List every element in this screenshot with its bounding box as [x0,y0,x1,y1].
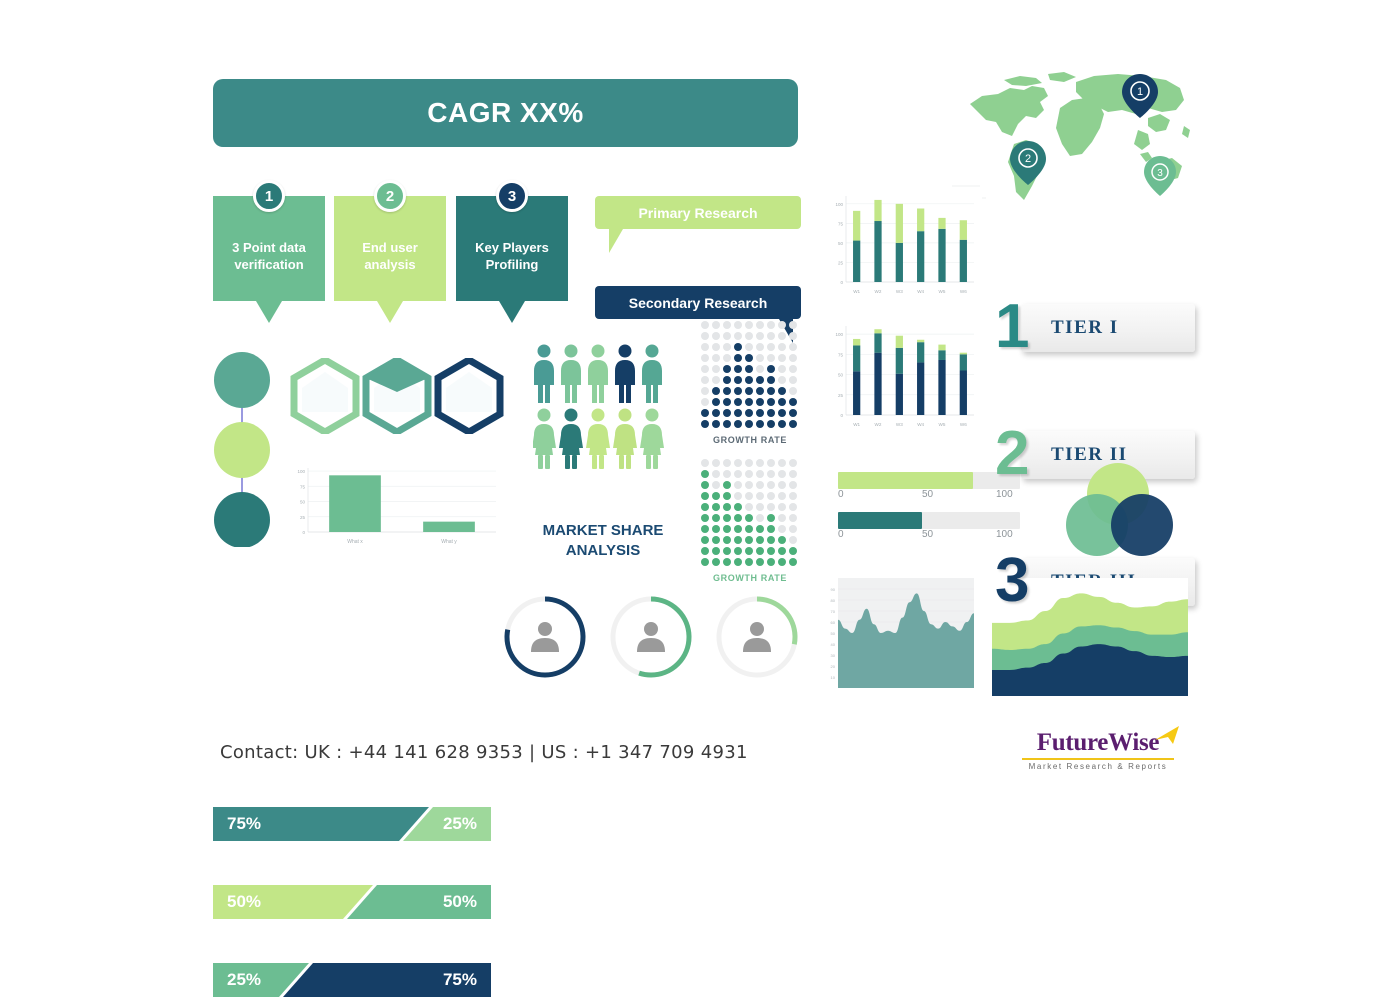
growth-rate-top-caption: GROWTH RATE [700,435,800,445]
growth-top-dot [712,409,720,417]
growth-top-dot [712,387,720,395]
y-tick-label: 0 [302,530,305,535]
growth-bottom-dot [789,514,797,522]
step-badge-3: 3 [496,180,528,212]
growth-top-dot [723,420,731,428]
y-tick-label: 70 [831,609,836,614]
logo-divider [1022,758,1174,760]
growth-top-dot [789,365,797,373]
primary-research-tail [609,229,623,253]
stacked-bar-chart-bottom: 0255075100W1W2W3W4W5W6 [824,320,982,435]
tier-label-1: TIER I [1051,317,1119,339]
simple-bar-chart: 0255075100What xWhat y [288,462,504,550]
person-icon-male-1 [534,345,554,404]
bar-segment [853,211,860,241]
logo-word-wise: Wise [1108,729,1159,756]
market-share-people [533,344,673,474]
futurewise-logo[interactable]: FutureWise Market Research & Reports [1018,730,1178,771]
growth-bottom-dot [745,492,753,500]
growth-bottom-dot [745,481,753,489]
growth-top-dot [734,343,742,351]
growth-bottom-dot [701,481,709,489]
x-tick-label: W6 [960,289,967,294]
growth-top-dot [701,387,709,395]
growth-bottom-dot [767,525,775,533]
growth-bottom-dot [778,547,786,555]
growth-bottom-dot [778,459,786,467]
growth-top-dot [767,376,775,384]
growth-top-dot [767,332,775,340]
growth-bottom-dot [778,503,786,511]
growth-top-dot [789,420,797,428]
step-tail-3 [499,301,525,323]
y-tick-label: 90 [831,587,836,592]
growth-bottom-dot [756,536,764,544]
growth-top-dot [756,398,764,406]
donut-gauge-3 [710,590,804,684]
percent-bar-2-left-value: 50% [227,892,261,912]
cagr-banner-title: CAGR XX% [427,97,583,129]
growth-bottom-dot [712,525,720,533]
y-tick-label: 75 [838,352,844,357]
growth-bottom-dot [712,481,720,489]
growth-rate-bottom-caption: GROWTH RATE [700,573,800,583]
world-map: 1 2 3 [952,66,1192,216]
person-icon-male-5 [642,345,662,404]
person-icon-male-3 [588,345,608,404]
person-icon-female-4 [613,409,637,470]
y-tick-label: 0 [840,280,843,285]
bar-segment [917,340,924,342]
y-tick-label: 100 [835,332,843,337]
growth-bottom-dot [734,503,742,511]
growth-top-dot [745,365,753,373]
bar-segment [853,345,860,371]
growth-bottom-dot [778,492,786,500]
growth-bottom-dot [723,459,731,467]
y-tick-label: 80 [831,598,836,603]
growth-bottom-dot [745,558,753,566]
primary-research-banner: Primary Research [595,196,801,229]
growth-top-dot [734,321,742,329]
growth-rate-dotgrid-top: GROWTH RATE [700,320,800,445]
person-icon [531,622,559,652]
stacked-circles [212,352,272,547]
step-card-3: 3 Key Players Profiling [456,196,568,323]
market-share-caption-line1: MARKET SHARE [520,521,686,541]
growth-top-dot [778,343,786,351]
step-tail-2 [377,301,403,323]
growth-top-dot [734,354,742,362]
growth-top-dot [745,409,753,417]
growth-top-dot [701,420,709,428]
percent-bar-row-1: 75% 25% [213,807,491,841]
percent-bar-2-right: 50% [347,885,491,919]
growth-bottom-dot [756,525,764,533]
growth-top-dot [789,376,797,384]
growth-top-dot [767,387,775,395]
growth-top-dot [712,332,720,340]
growth-bottom-dot [789,536,797,544]
progress-bar-1-fill [838,472,973,489]
y-tick-label: 25 [300,515,306,520]
growth-top-dot [756,343,764,351]
bar-segment [917,342,924,362]
growth-bottom-dot [756,558,764,566]
map-marker-3[interactable]: 3 [1144,156,1176,196]
step-label-2: End user analysis [334,240,446,273]
growth-top-dot [767,398,775,406]
person-icon-female-5 [640,409,664,470]
growth-bottom-dot [723,547,731,555]
bar-segment [896,374,903,415]
x-tick-label: W6 [960,422,967,427]
growth-rate-dotgrid-bottom: GROWTH RATE [700,458,800,583]
progress-bar-1-tick-0: 0 [838,489,844,500]
logo-wordmark: FutureWise [1037,730,1159,755]
growth-top-dot [723,354,731,362]
x-tick-label: W5 [939,422,946,427]
y-tick-label: 25 [838,260,844,265]
step-badge-2: 2 [374,180,406,212]
growth-top-dot [712,420,720,428]
bar-segment [938,218,945,229]
growth-bottom-dot [778,525,786,533]
growth-bottom-dot [789,525,797,533]
growth-bottom-dot [734,459,742,467]
hexagon-1 [294,360,356,432]
x-tick-label: W2 [875,289,882,294]
venn-diagram [1064,462,1180,558]
growth-bottom-dot [701,547,709,555]
growth-top-dot [789,354,797,362]
step-badge-1: 1 [253,180,285,212]
percent-bar-3-right-value: 75% [443,970,477,990]
growth-bottom-dot [734,547,742,555]
logo-word-future: Future [1037,729,1108,756]
person-icon-female-3 [586,409,610,470]
growth-bottom-dot [756,503,764,511]
growth-bottom-dot [756,481,764,489]
footer-contact: Contact: UK : +44 141 628 9353 | US : +1… [220,742,748,763]
y-tick-label: 0 [840,413,843,418]
growth-bottom-dot [701,470,709,478]
hexagon-group [290,358,505,434]
bar-segment [874,221,881,282]
growth-top-dot [734,398,742,406]
growth-bottom-dot [778,536,786,544]
growth-bottom-dot [723,481,731,489]
growth-top-dot [734,387,742,395]
bar-segment [960,354,967,370]
donut-gauge-1 [498,590,592,684]
growth-top-dot [756,365,764,373]
growth-bottom-dot [712,558,720,566]
bar-segment [874,353,881,415]
donut-gauge-2 [604,590,698,684]
x-tick-label: What x [347,539,363,545]
growth-bottom-dot [778,558,786,566]
x-tick-label: W4 [917,422,924,427]
bar [329,475,381,532]
growth-bottom-dot [767,459,775,467]
growth-bottom-dot [712,547,720,555]
growth-bottom-dot [756,470,764,478]
growth-top-dot [767,420,775,428]
infographic-canvas: CAGR XX% 1 3 Point data verification 2 E… [0,0,1400,800]
growth-top-dot [745,321,753,329]
progress-bar-2-fill [838,512,922,529]
growth-top-dot [767,365,775,373]
secondary-research-banner: Secondary Research [595,286,801,319]
percent-bar-1-left-value: 75% [227,814,261,834]
progress-bar-2-tick-50: 50 [922,529,933,540]
growth-top-dot [778,398,786,406]
growth-top-dot [701,354,709,362]
step-card-2: 2 End user analysis [334,196,446,323]
growth-top-dot [756,321,764,329]
growth-top-dot [767,354,775,362]
percent-bar-2-left: 50% [213,885,373,919]
growth-top-dot [756,387,764,395]
tier-row-1[interactable]: TIER I 1 [995,300,1195,356]
growth-top-dot [712,376,720,384]
svg-text:3: 3 [1157,168,1163,179]
progress-bar-2-tick-0: 0 [838,529,844,540]
progress-bar-1-track[interactable] [838,472,1020,489]
growth-bottom-dot [701,514,709,522]
y-tick-label: 20 [831,664,836,669]
bar-segment [917,362,924,415]
growth-bottom-dot [723,536,731,544]
growth-top-dot [723,365,731,373]
person-icon-male-4 [615,345,635,404]
growth-top-dot [756,420,764,428]
y-tick-label: 50 [838,373,844,378]
growth-bottom-dot [701,536,709,544]
growth-bottom-dot [701,558,709,566]
growth-bottom-dot [701,459,709,467]
area-chart-single: 102030405060708090 [822,574,978,696]
growth-bottom-dot [745,547,753,555]
x-tick-label: W1 [853,289,860,294]
growth-top-dot [734,376,742,384]
progress-bar-1-scale: 0 50 100 [838,489,1020,503]
growth-top-dot [701,376,709,384]
growth-top-dot [767,343,775,351]
percent-bar-row-2: 50% 50% [213,885,491,919]
growth-top-dot [745,354,753,362]
percent-bar-1-left: 75% [213,807,429,841]
bar-segment [960,220,967,240]
growth-top-dot [712,365,720,373]
growth-bottom-dot [712,492,720,500]
hexagon-3 [438,360,500,432]
dotgrid-top-cells [700,320,800,430]
growth-top-dot [701,321,709,329]
tier-number-1: 1 [995,296,1029,358]
growth-bottom-dot [767,492,775,500]
growth-bottom-dot [756,459,764,467]
progress-bar-2-scale: 0 50 100 [838,529,1020,543]
growth-bottom-dot [701,492,709,500]
growth-bottom-dot [767,558,775,566]
growth-top-dot [789,387,797,395]
secondary-research-label: Secondary Research [629,295,768,311]
growth-bottom-dot [756,547,764,555]
dotgrid-bottom-cells [700,458,800,568]
growth-bottom-dot [745,536,753,544]
bar-segment [917,231,924,282]
logo-tagline: Market Research & Reports [1018,762,1178,771]
growth-top-dot [756,409,764,417]
bar-segment [938,229,945,282]
growth-top-dot [723,409,731,417]
hexagon-2 [366,360,428,432]
person-icon-female-1 [533,409,556,470]
progress-bar-group: 0 50 100 0 50 100 [838,472,1020,543]
y-tick-label: 75 [300,484,306,489]
growth-top-dot [767,409,775,417]
growth-bottom-dot [756,514,764,522]
growth-bottom-dot [745,525,753,533]
y-tick-label: 50 [838,241,844,246]
growth-top-dot [778,365,786,373]
growth-bottom-dot [734,470,742,478]
growth-bottom-dot [701,503,709,511]
growth-bottom-dot [734,481,742,489]
growth-bottom-dot [723,525,731,533]
step-card-1: 1 3 Point data verification [213,196,325,323]
growth-bottom-dot [789,492,797,500]
x-tick-label: W5 [939,289,946,294]
growth-bottom-dot [789,470,797,478]
growth-top-dot [789,332,797,340]
growth-top-dot [723,343,731,351]
growth-bottom-dot [723,503,731,511]
growth-bottom-dot [789,558,797,566]
market-share-caption: MARKET SHARE ANALYSIS [520,521,686,562]
growth-bottom-dot [712,536,720,544]
step-tail-1 [256,301,282,323]
growth-top-dot [712,321,720,329]
svg-text:2: 2 [1025,153,1031,165]
step-number-1: 1 [265,188,273,205]
growth-top-dot [734,365,742,373]
growth-bottom-dot [712,514,720,522]
growth-top-dot [778,332,786,340]
person-icon-male-2 [561,345,581,404]
y-tick-label: 50 [300,500,306,505]
growth-bottom-dot [789,503,797,511]
progress-bar-2-tick-100: 100 [996,529,1013,540]
growth-top-dot [745,332,753,340]
growth-top-dot [701,332,709,340]
stack-circle-3 [214,492,270,547]
growth-top-dot [789,398,797,406]
y-tick-label: 40 [831,642,836,647]
bar-segment [938,350,945,360]
growth-bottom-dot [745,459,753,467]
growth-bottom-dot [745,503,753,511]
x-tick-label: What y [441,539,457,545]
bar-segment [960,240,967,282]
growth-top-dot [734,332,742,340]
growth-top-dot [778,387,786,395]
percent-bar-1-right-value: 25% [443,814,477,834]
y-tick-label: 50 [831,631,836,636]
bar-segment [896,336,903,348]
growth-top-dot [778,409,786,417]
step-label-3: Key Players Profiling [456,240,568,273]
growth-bottom-dot [745,514,753,522]
stack-circle-2 [214,422,270,478]
bar-segment [853,241,860,282]
growth-bottom-dot [723,492,731,500]
person-icon [637,622,665,652]
bar-segment [896,243,903,282]
step-number-2: 2 [386,188,394,205]
growth-bottom-dot [767,481,775,489]
bar-segment [896,204,903,243]
growth-bottom-dot [734,514,742,522]
progress-bar-2-track[interactable] [838,512,1020,529]
x-tick-label: W2 [875,422,882,427]
cagr-banner: CAGR XX% [213,79,798,147]
growth-bottom-dot [778,470,786,478]
primary-research-label: Primary Research [638,205,757,221]
growth-bottom-dot [767,514,775,522]
growth-bottom-dot [778,481,786,489]
growth-bottom-dot [734,492,742,500]
step-number-3: 3 [508,188,516,205]
growth-bottom-dot [767,547,775,555]
y-tick-label: 25 [838,393,844,398]
growth-bottom-dot [767,536,775,544]
growth-bottom-dot [734,525,742,533]
growth-bottom-dot [723,470,731,478]
growth-top-dot [789,409,797,417]
growth-bottom-dot [756,492,764,500]
tier-plate-1: TIER I [1021,304,1195,352]
y-tick-label: 60 [831,620,836,625]
growth-top-dot [745,343,753,351]
growth-bottom-dot [767,470,775,478]
growth-bottom-dot [745,470,753,478]
growth-top-dot [712,354,720,362]
growth-bottom-dot [734,536,742,544]
growth-top-dot [701,409,709,417]
market-share-caption-line2: ANALYSIS [520,541,686,561]
growth-top-dot [745,398,753,406]
y-tick-label: 30 [831,653,836,658]
percent-bar-3-left-value: 25% [227,970,261,990]
growth-bottom-dot [712,503,720,511]
growth-top-dot [745,376,753,384]
growth-top-dot [789,321,797,329]
growth-bottom-dot [789,547,797,555]
growth-top-dot [734,409,742,417]
x-tick-label: W4 [917,289,924,294]
growth-bottom-dot [734,558,742,566]
bar-segment [917,209,924,232]
growth-bottom-dot [789,459,797,467]
growth-bottom-dot [789,481,797,489]
progress-bar-1-tick-50: 50 [922,489,933,500]
percent-bar-row-3: 25% 75% [213,963,491,997]
growth-top-dot [701,343,709,351]
bar-segment [960,353,967,355]
